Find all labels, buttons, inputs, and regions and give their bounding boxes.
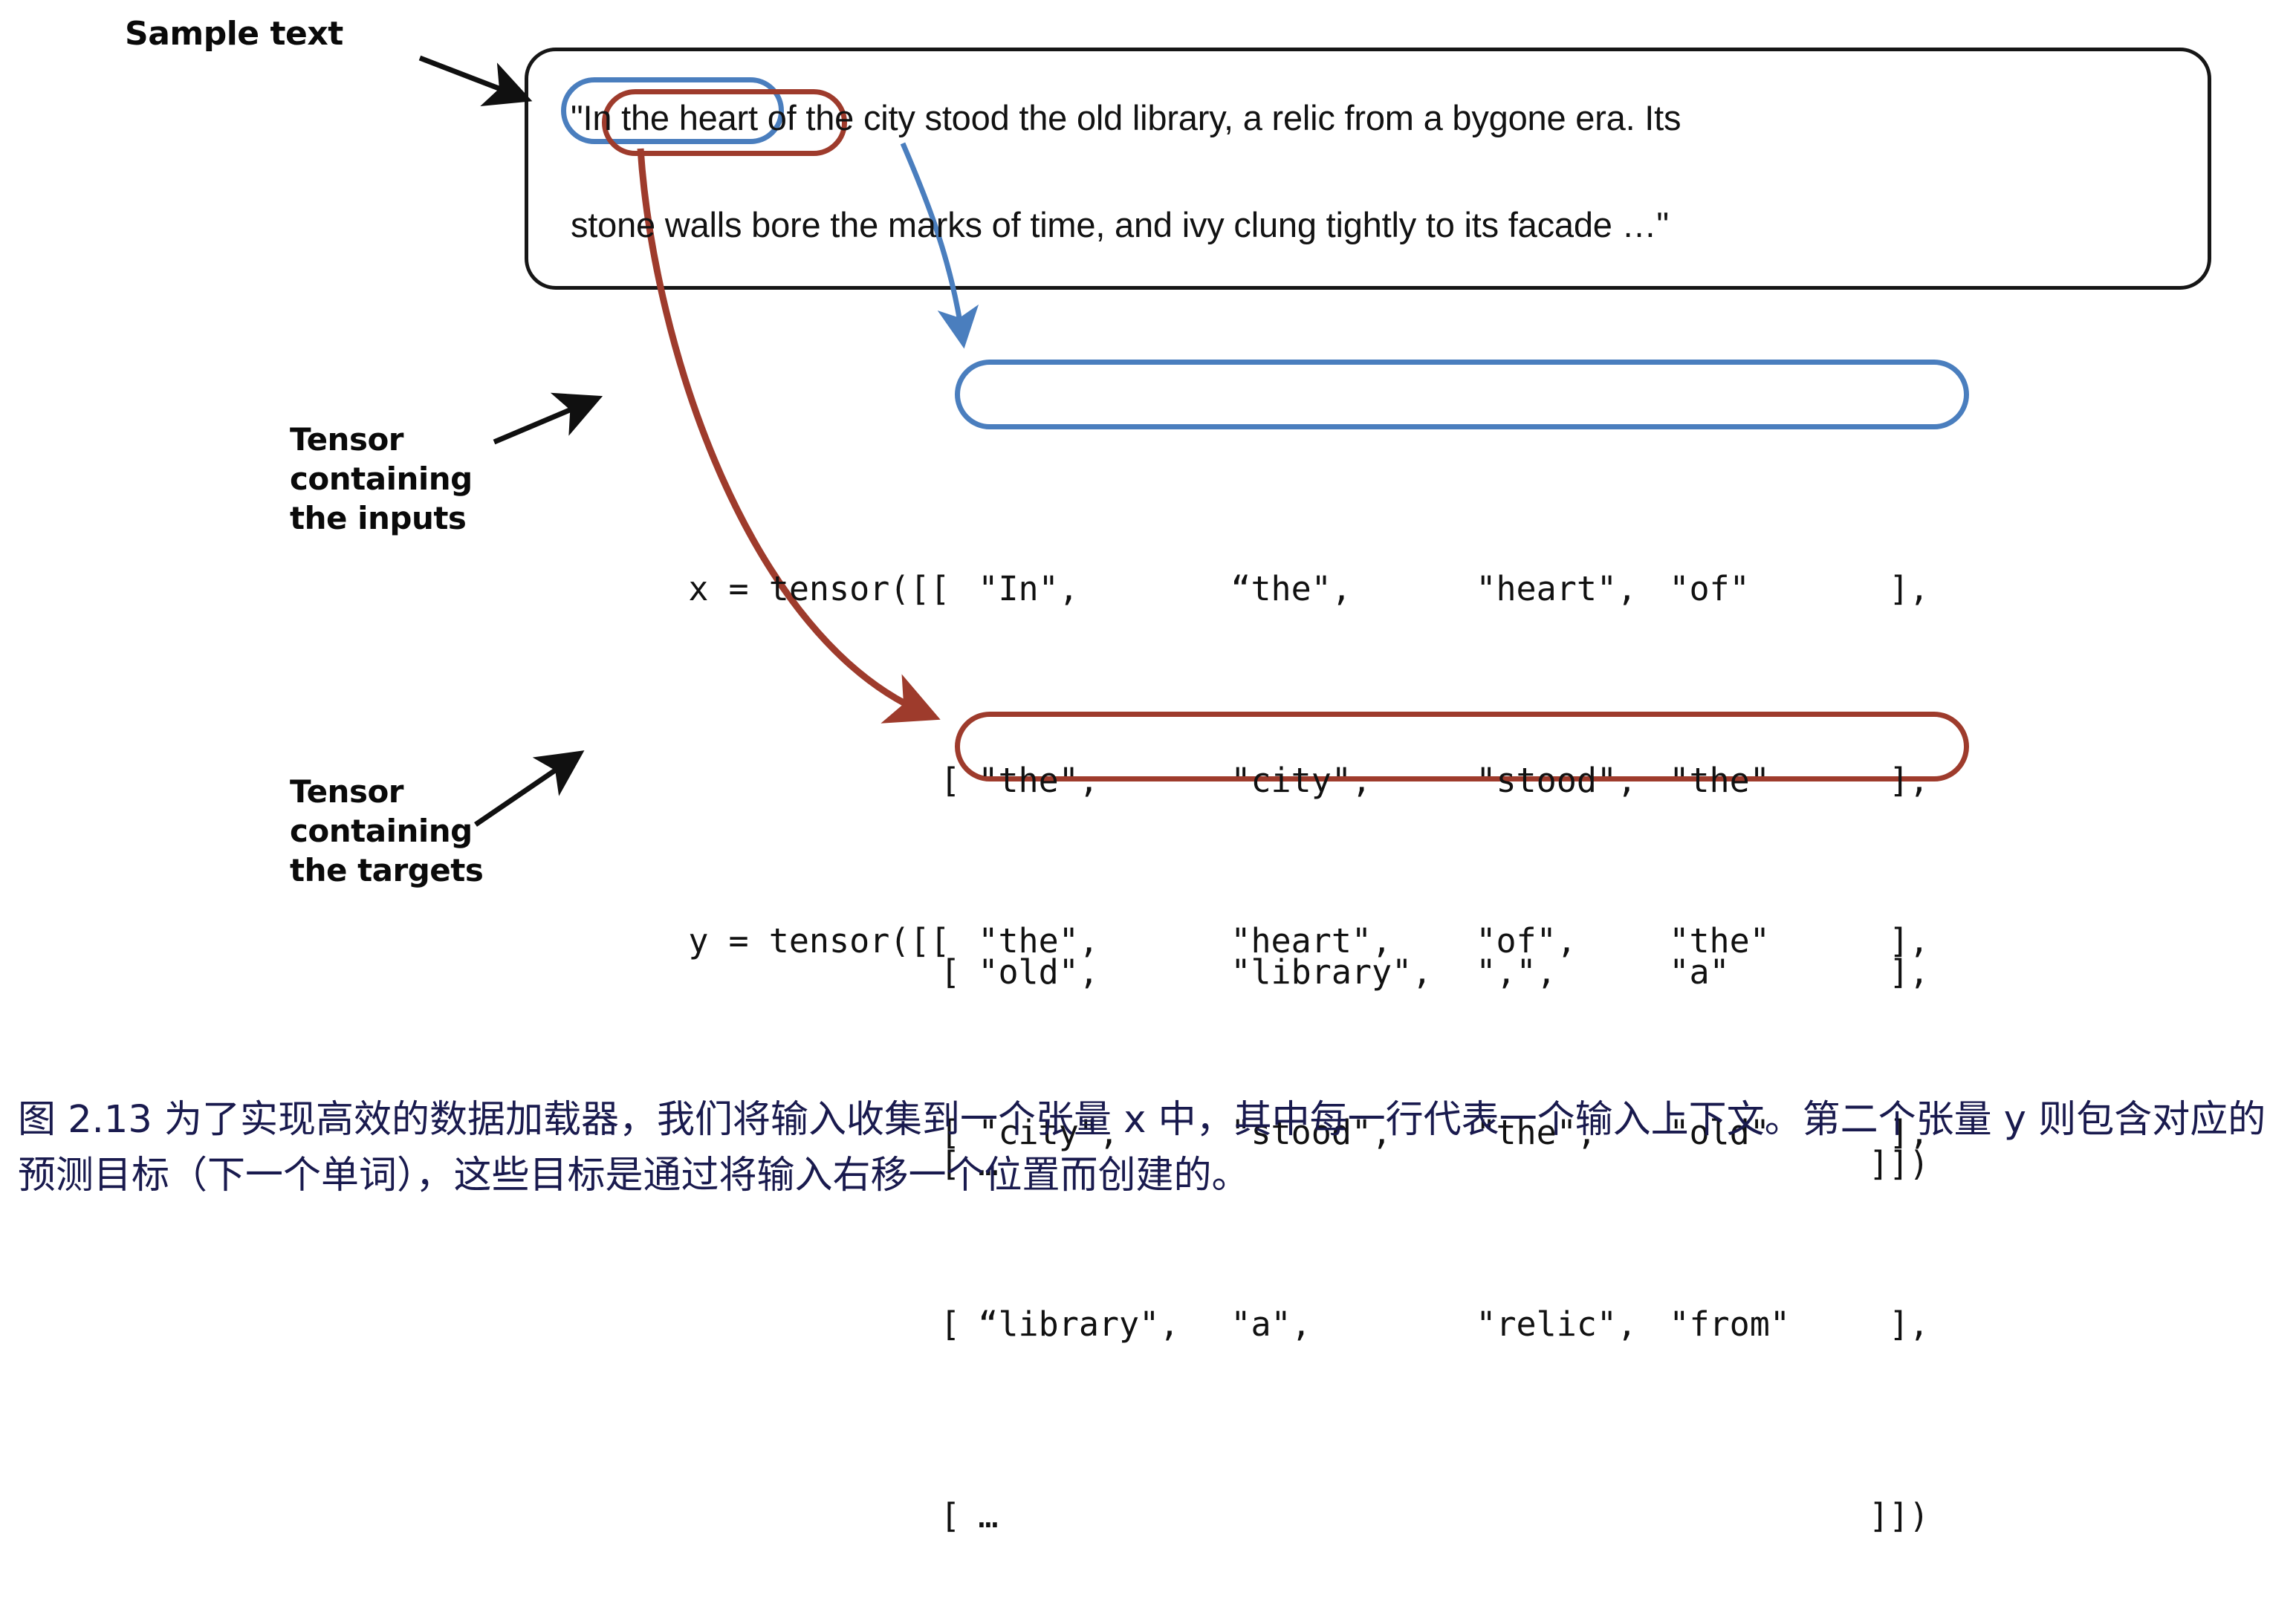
tensor-y-cell-0-0: "the", [978,909,1230,973]
tensor-x-tail-0: ], [1840,557,1929,621]
tensor-x-row-0: x = tensor([["In",“the","heart","of"], [608,493,1929,557]
arrow-sample-text [420,58,520,97]
tensor-y-cell-0-1: "heart", [1230,909,1476,973]
tensor-y-row-0: y = tensor([["the","heart","of","the"], [608,845,1929,909]
annotation-tensor-inputs: Tensor containing the inputs [290,420,473,539]
tensor-x-cell-0-1: “the", [1230,557,1476,621]
tensor-y-cell-0-3: "the" [1669,909,1840,973]
arrow-tensor-targets [476,758,574,825]
tensor-y-tail-0: ], [1840,909,1929,973]
sample-text-card [525,48,2211,290]
tensor-y-bracket-2: [ [688,1293,978,1356]
tensor-y-tail-3: ]]) [1840,1484,1929,1548]
tensor-y-row-3: […]]) [608,1420,1929,1484]
sample-text-line-1: "In the heart of the city stood the old … [571,97,1681,138]
tensor-x-prefix: x = tensor([[ [688,557,978,621]
tensor-y-cell-3-0: … [978,1484,1230,1548]
tensor-y-row-2: [“library","a","relic","from"], [608,1229,1929,1293]
tensor-y-bracket-3: [ [688,1484,978,1548]
tensor-x-cell-0-0: "In", [978,557,1230,621]
tensor-y-cell-2-0: “library", [978,1293,1230,1356]
annotation-targets-line-3: the targets [290,851,483,891]
arrow-tensor-inputs [494,401,591,442]
annotation-inputs-line-1: Tensor [290,420,473,460]
tensor-y-prefix: y = tensor([[ [688,909,978,973]
annotation-targets-line-2: containing [290,812,483,851]
tensor-x-cell-0-3: "of" [1669,557,1840,621]
tensor-x-cell-0-2: "heart", [1476,557,1669,621]
annotation-inputs-line-2: containing [290,460,473,499]
annotation-inputs-line-3: the inputs [290,499,473,539]
sample-text-line-2: stone walls bore the marks of time, and … [571,204,1669,245]
tensor-y-tail-2: ], [1840,1293,1929,1356]
tensor-y-cell-2-3: "from" [1669,1293,1840,1356]
annotation-targets-line-1: Tensor [290,773,483,812]
annotation-tensor-targets: Tensor containing the targets [290,773,483,891]
tensor-y-cell-0-2: "of", [1476,909,1669,973]
tensor-y-cell-2-1: "a", [1230,1293,1476,1356]
tensor-y-cell-2-2: "relic", [1476,1293,1669,1356]
figure-caption: 图 2.13 为了实现高效的数据加载器，我们将输入收集到一个张量 x 中，其中每… [18,1092,2284,1204]
annotation-sample-text: Sample text [125,13,343,54]
